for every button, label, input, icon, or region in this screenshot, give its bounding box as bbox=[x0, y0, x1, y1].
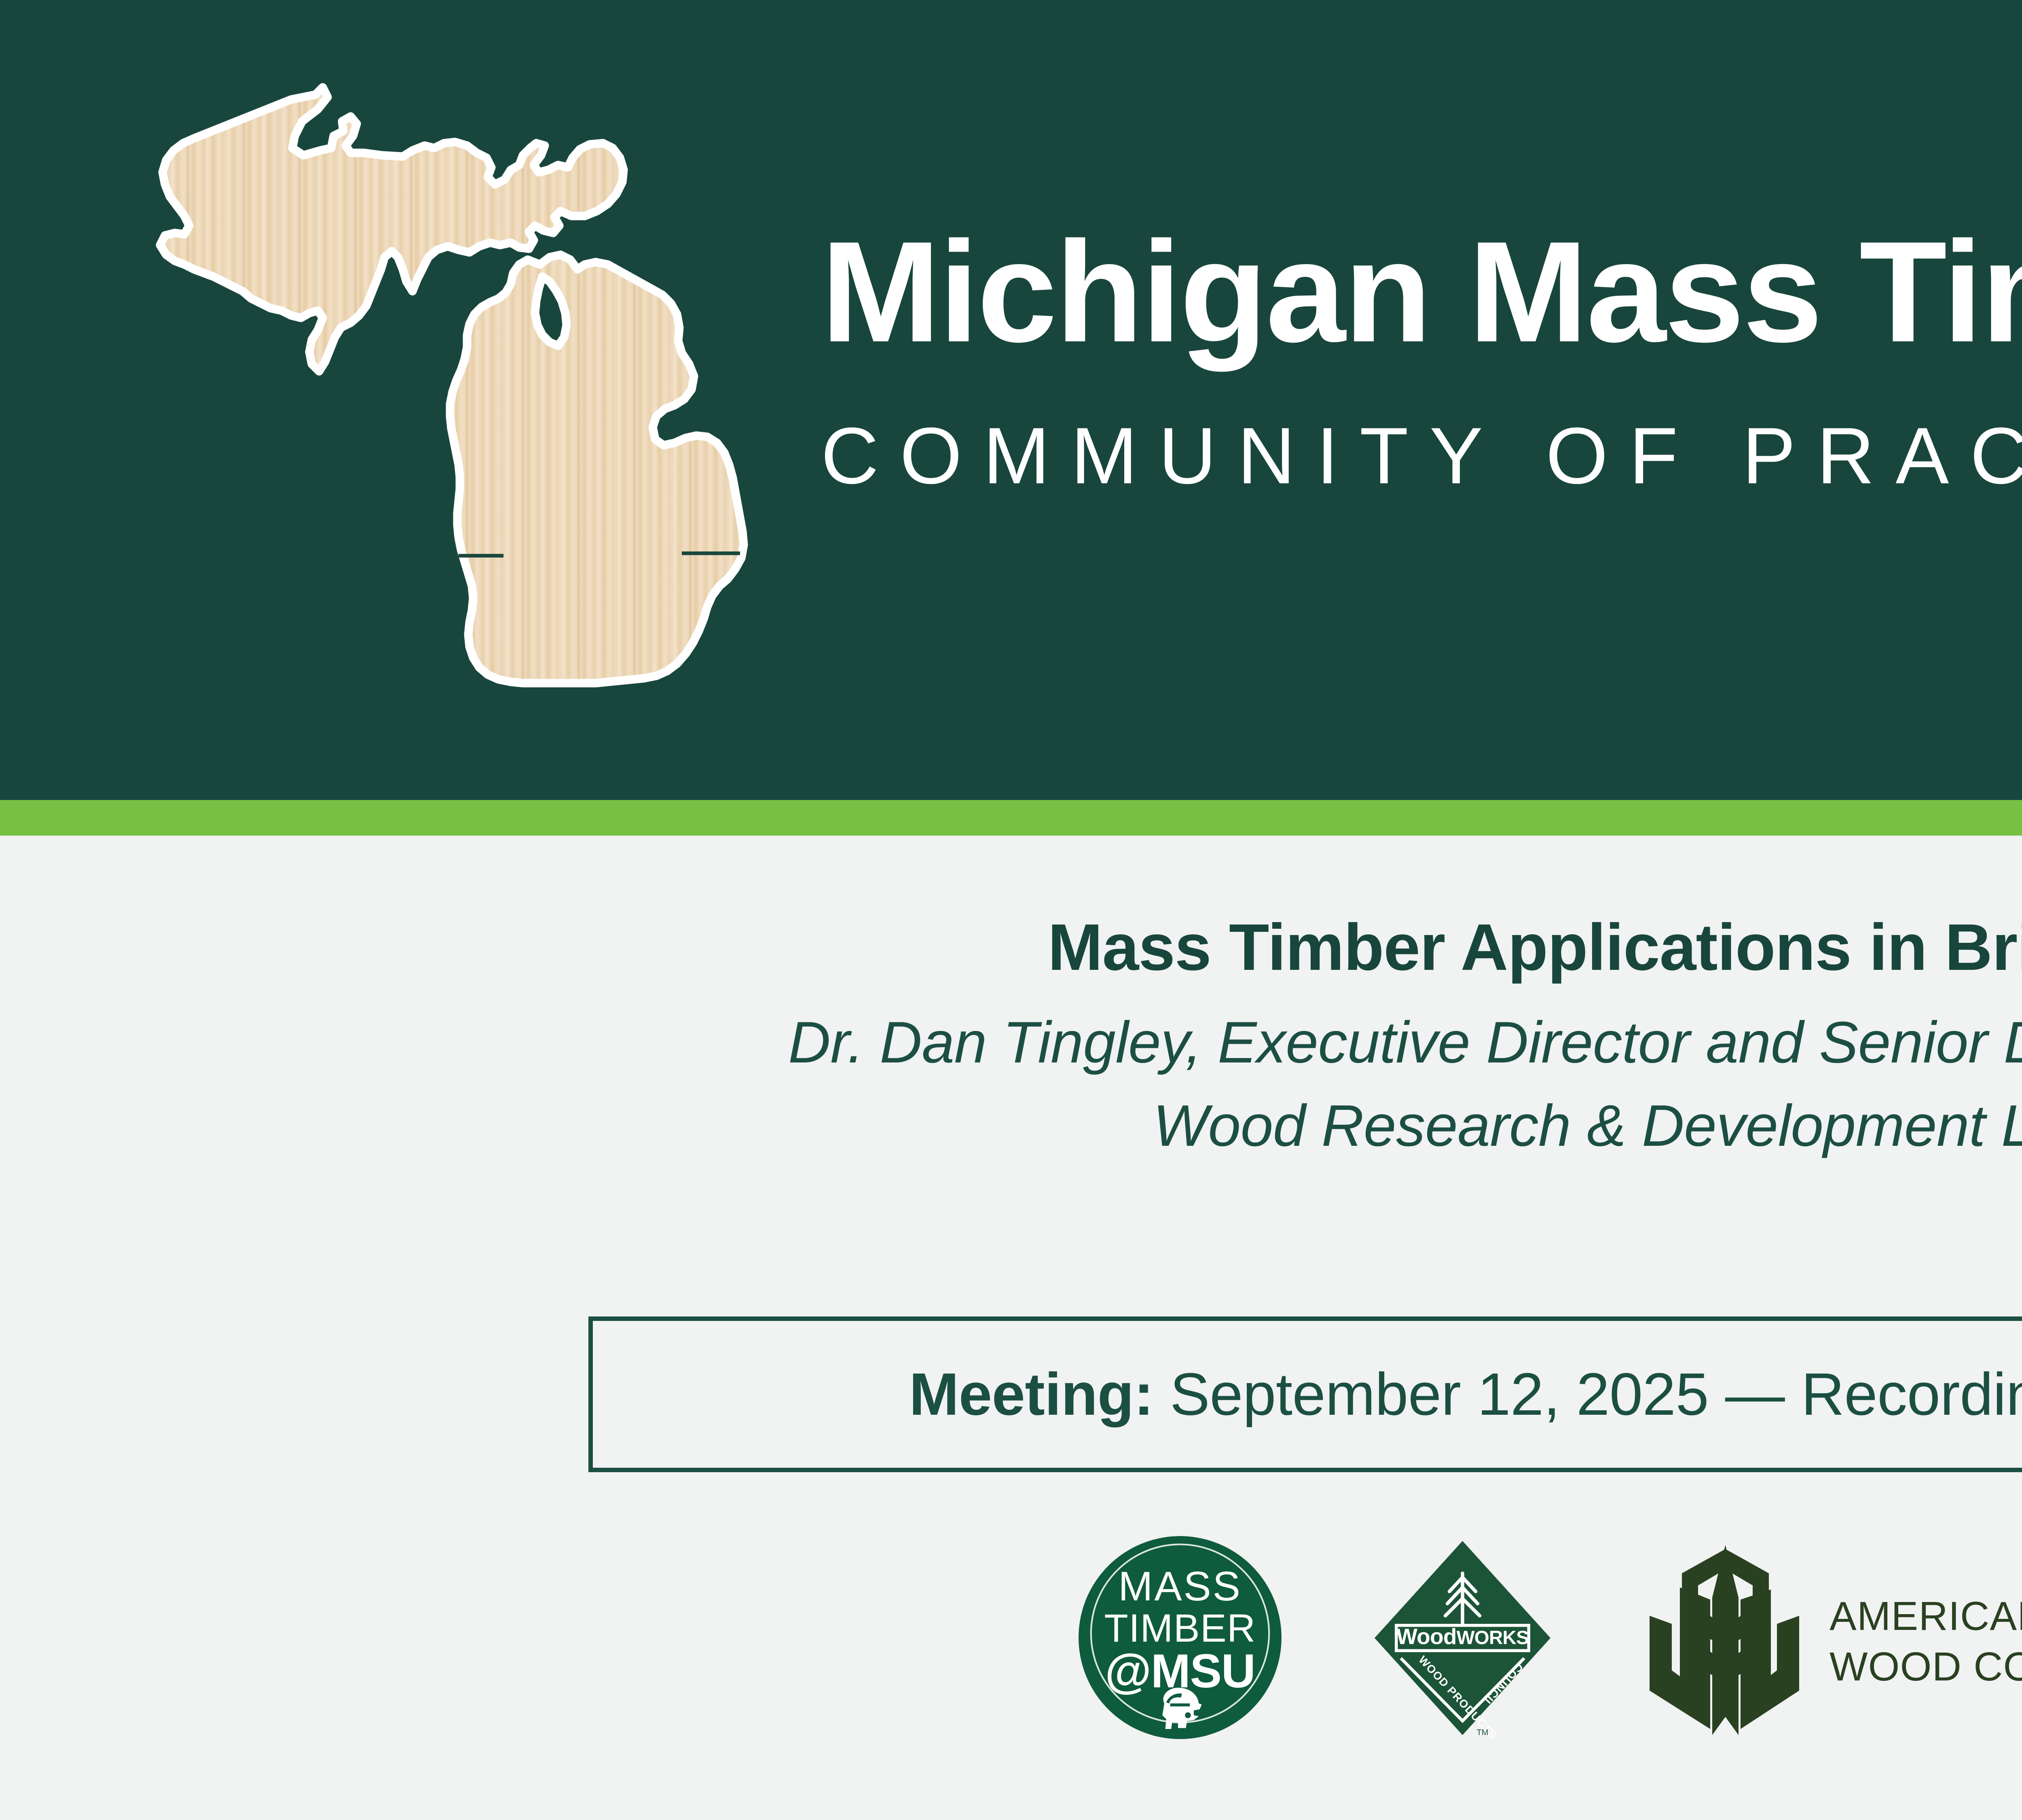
meeting-text: Meeting: September 12, 2025 — Recording … bbox=[909, 1360, 2022, 1429]
partner-logo-strip: MASS TIMBER @MSU bbox=[0, 1529, 2022, 1747]
michigan-state-map-icon bbox=[133, 73, 801, 752]
logo-mass-timber-msu[interactable]: MASS TIMBER @MSU bbox=[1077, 1534, 1284, 1742]
presenter-organization: Wood Research & Development Ltd bbox=[0, 1084, 2022, 1168]
presenter-name-role: Dr. Dan Tingley, Executive Director and … bbox=[0, 1001, 2022, 1084]
logo-woodworks[interactable]: WoodWORKS WOOD PRODUCTS COUNCIL TM bbox=[1371, 1537, 1555, 1739]
page-title: Michigan Mass Timber bbox=[821, 220, 2022, 364]
awc-monogram-icon bbox=[1650, 1545, 1799, 1735]
promo-banner: Michigan Mass Timber COMMUNITY OF PRACTI… bbox=[0, 0, 2022, 1820]
meeting-label: Meeting: bbox=[909, 1361, 1153, 1428]
awc-logo-line1: AMERICAN bbox=[1830, 1594, 2022, 1639]
presenter-info: Dr. Dan Tingley, Executive Director and … bbox=[0, 1001, 2022, 1168]
awc-logo-line2: WOOD COUNCIL bbox=[1830, 1644, 2022, 1689]
page-subtitle: COMMUNITY OF PRACTICE bbox=[821, 416, 2022, 496]
meeting-info-box: Meeting: September 12, 2025 — Recording … bbox=[588, 1316, 2022, 1472]
msu-logo-line1: MASS bbox=[1118, 1562, 1242, 1609]
logo-american-wood-council[interactable]: AMERICAN WOOD COUNCIL bbox=[1641, 1537, 2022, 1739]
header-title-block: Michigan Mass Timber COMMUNITY OF PRACTI… bbox=[821, 220, 2022, 496]
meeting-value: September 12, 2025 — Recording Available bbox=[1153, 1361, 2022, 1428]
woodworks-trademark: TM bbox=[1476, 1728, 1488, 1737]
session-title: Mass Timber Applications in Bridges bbox=[0, 912, 2022, 982]
woodworks-wordmark: WoodWORKS bbox=[1396, 1624, 1528, 1649]
accent-divider-bar bbox=[0, 800, 2022, 836]
banner-header: Michigan Mass Timber COMMUNITY OF PRACTI… bbox=[0, 0, 2022, 800]
